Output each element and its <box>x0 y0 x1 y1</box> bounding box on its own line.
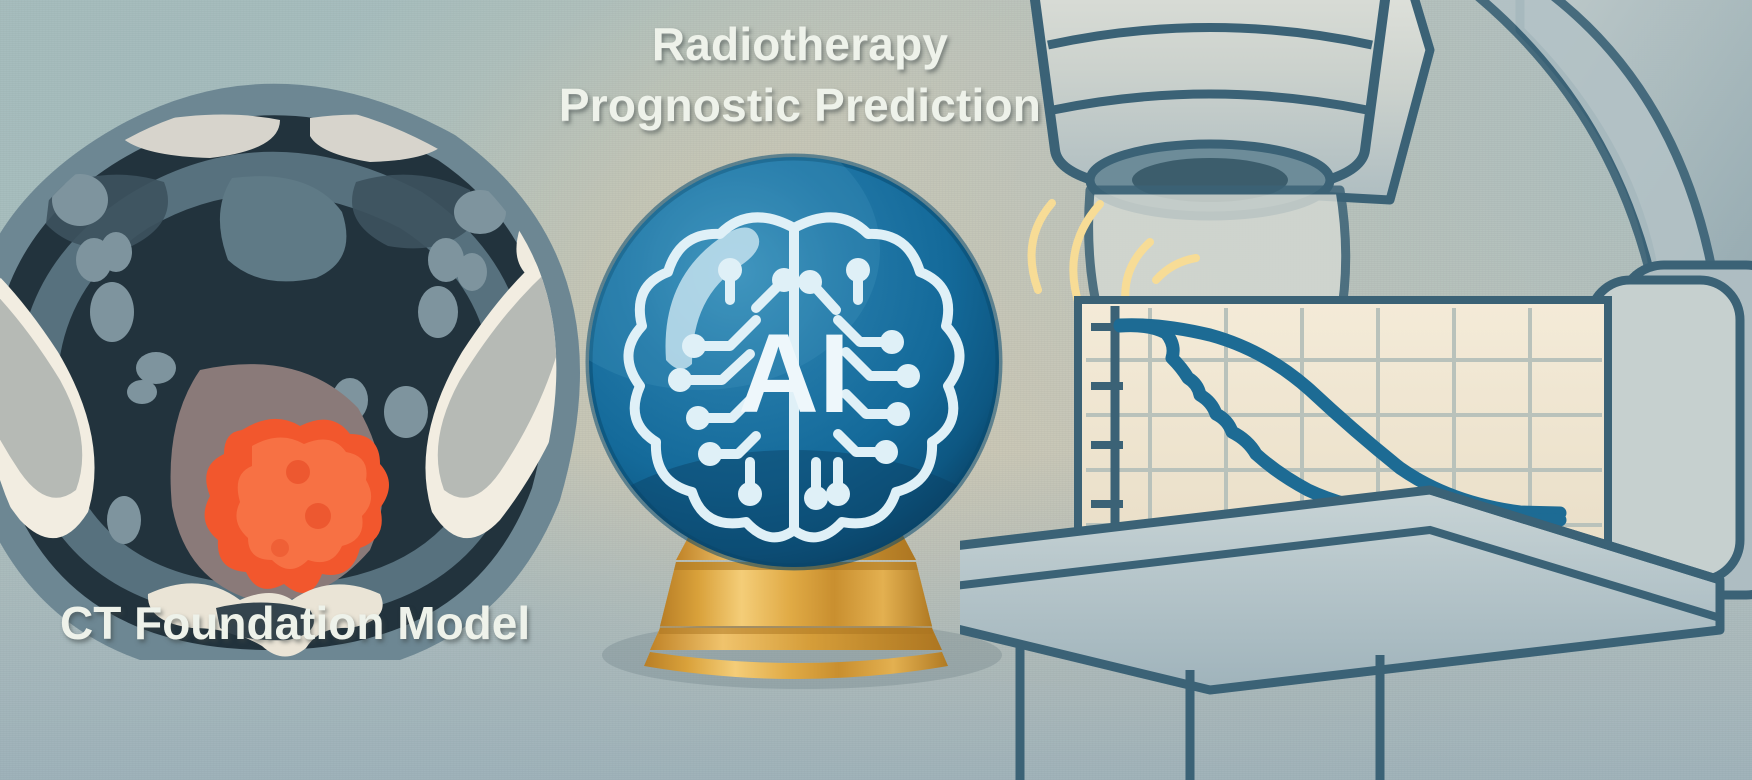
ct-scan-illustration <box>0 0 640 660</box>
linac-illustration <box>960 0 1752 780</box>
ai-badge-label: AI <box>738 311 850 436</box>
banner-canvas: AI Radiotherapy Prognostic Prediction CT… <box>0 0 1752 780</box>
crystal-ball-illustration: AI <box>580 150 1040 710</box>
treatment-head <box>1035 0 1385 216</box>
